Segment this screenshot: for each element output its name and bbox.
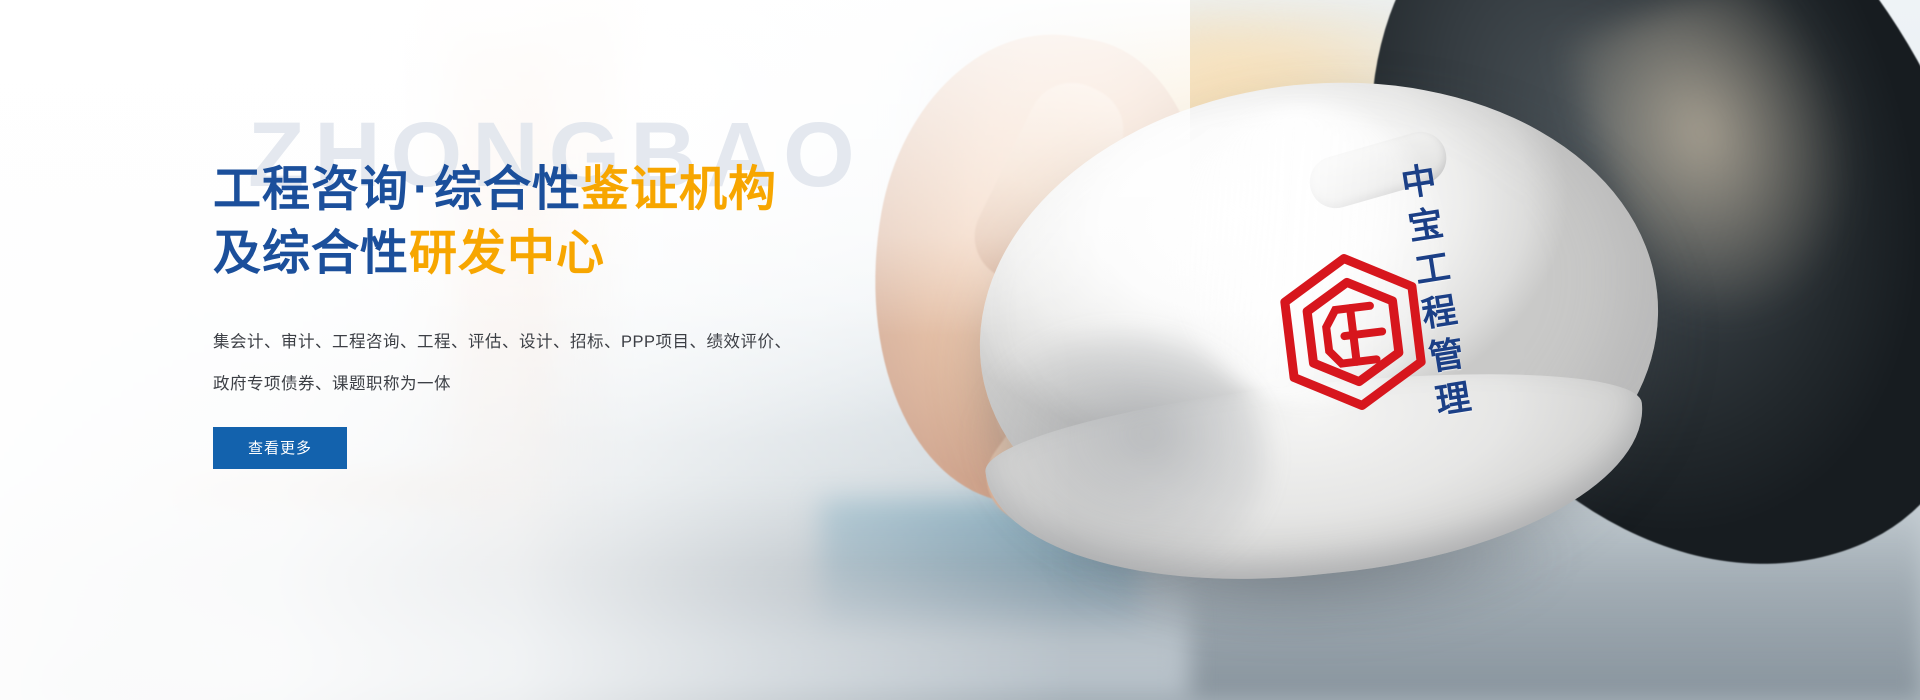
hero-description: 集会计、审计、工程咨询、工程、评估、设计、招标、PPP项目、绩效评价、 政府专项… xyxy=(213,321,913,405)
headline-line2-part2: 研发中心 xyxy=(409,227,605,280)
hero-description-line-2: 政府专项债券、课题职称为一体 xyxy=(213,363,913,405)
hero-banner: 中宝工程管理 ZHONGBAO 工程咨询·综合性鉴证机构 及综合性研发中心 集会… xyxy=(0,0,1920,700)
hero-copy: 工程咨询·综合性鉴证机构 及综合性研发中心 集会计、审计、工程咨询、工程、评估、… xyxy=(213,158,913,469)
headline-line-2: 及综合性研发中心 xyxy=(213,222,913,286)
headline-line2-part1: 及综合性 xyxy=(213,227,409,280)
view-more-button[interactable]: 查看更多 xyxy=(213,427,347,469)
headline-separator-dot: · xyxy=(409,163,434,216)
headline-line1-part3: 鉴证机构 xyxy=(581,163,777,216)
headline-line1-part1: 工程咨询 xyxy=(213,163,409,216)
hero-description-line-1: 集会计、审计、工程咨询、工程、评估、设计、招标、PPP项目、绩效评价、 xyxy=(213,321,913,363)
headline-line1-part2: 综合性 xyxy=(434,163,581,216)
headline-line-1: 工程咨询·综合性鉴证机构 xyxy=(213,158,913,222)
